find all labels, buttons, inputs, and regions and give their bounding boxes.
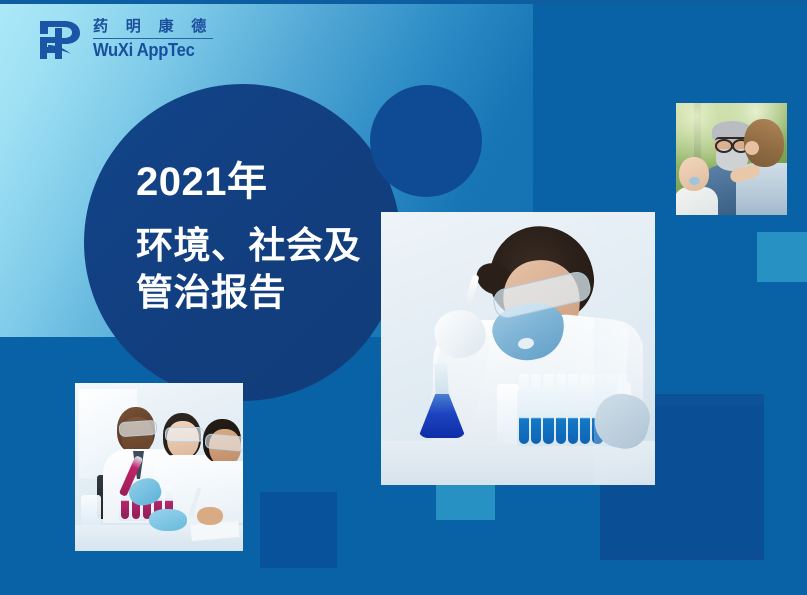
brand-name-cn: 药 明 康 德 [93,20,213,39]
baby-face [679,157,709,191]
report-year: 2021年 [136,160,436,204]
photo-family [676,103,787,215]
decorative-dark-square-left [260,492,337,568]
report-title: 环境、社会及 管治报告 [136,222,436,317]
cover-title-block: 2021年 环境、社会及 管治报告 [136,160,436,317]
brand-name-en: WuXi AppTec [93,41,204,59]
report-title-line-1: 环境、社会及 [136,222,436,269]
scientist-lab-bench [381,441,655,485]
blue-glove-right [149,509,187,531]
reagent-bottle [497,384,519,444]
wuxi-apptec-logo-icon [38,18,84,60]
photo-lab-team [75,383,243,551]
baby-body [676,187,718,215]
researcher-one-goggles [119,420,158,438]
decorative-dark-strip-bottom [600,552,764,560]
decorative-cyan-square-right [757,232,807,282]
pacifier [689,177,700,185]
report-title-line-2: 管治报告 [136,269,436,316]
writing-hand [197,507,223,525]
report-cover: 2021年 环境、社会及 管治报告 药 明 康 德 WuXi AppTec [0,0,807,595]
girl-ear [745,141,759,155]
brand-logo: 药 明 康 德 WuXi AppTec [38,18,213,60]
lab-bottles [81,495,101,529]
researcher-two-goggles [165,427,204,442]
brand-logo-text: 药 明 康 德 WuXi AppTec [93,20,213,59]
